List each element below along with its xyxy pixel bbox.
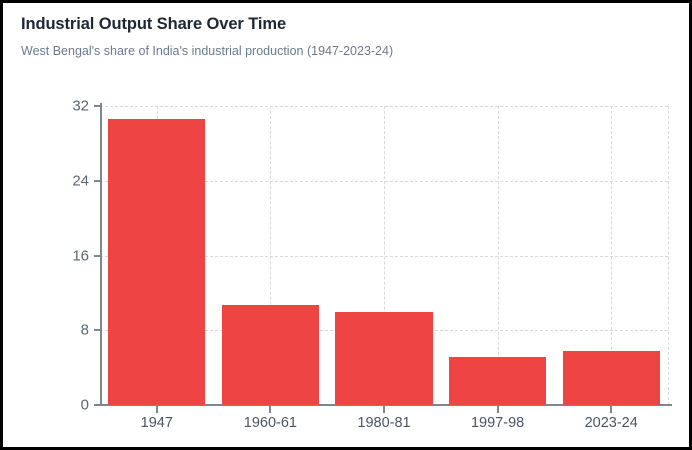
x-tick-label: 1947	[141, 415, 173, 431]
gridline-vertical-edge	[668, 106, 669, 405]
x-tick-label: 1960-61	[244, 415, 297, 431]
x-tick-mark	[497, 406, 499, 413]
x-tick-label: 2023-24	[585, 415, 638, 431]
x-tick-mark	[610, 406, 612, 413]
y-tick-label: 0	[3, 397, 89, 414]
bar-1997-98[interactable]	[449, 357, 546, 405]
bar-2023-24[interactable]	[563, 351, 660, 405]
y-tick-mark	[94, 180, 100, 182]
y-tick-mark	[94, 404, 100, 406]
x-tick-mark	[269, 406, 271, 413]
chart-card: Industrial Output Share Over Time West B…	[0, 0, 692, 450]
bar-1980-81[interactable]	[335, 312, 432, 405]
y-tick-mark	[94, 105, 100, 107]
bar-1947[interactable]	[108, 119, 205, 405]
y-tick-label: 24	[3, 172, 89, 189]
x-tick-label: 1997-98	[471, 415, 524, 431]
y-tick-label: 16	[3, 247, 89, 264]
x-tick-mark	[383, 406, 385, 413]
bar-1960-61[interactable]	[222, 305, 319, 405]
y-tick-label: 8	[3, 322, 89, 339]
x-tick-label: 1980-81	[357, 415, 410, 431]
y-tick-label: 32	[3, 98, 89, 115]
x-tick-mark	[156, 406, 158, 413]
y-tick-mark	[94, 255, 100, 257]
y-axis-line	[100, 103, 102, 406]
y-tick-mark	[94, 329, 100, 331]
chart-plot: 08162432 19471960-611980-811997-982023-2…	[3, 3, 692, 450]
